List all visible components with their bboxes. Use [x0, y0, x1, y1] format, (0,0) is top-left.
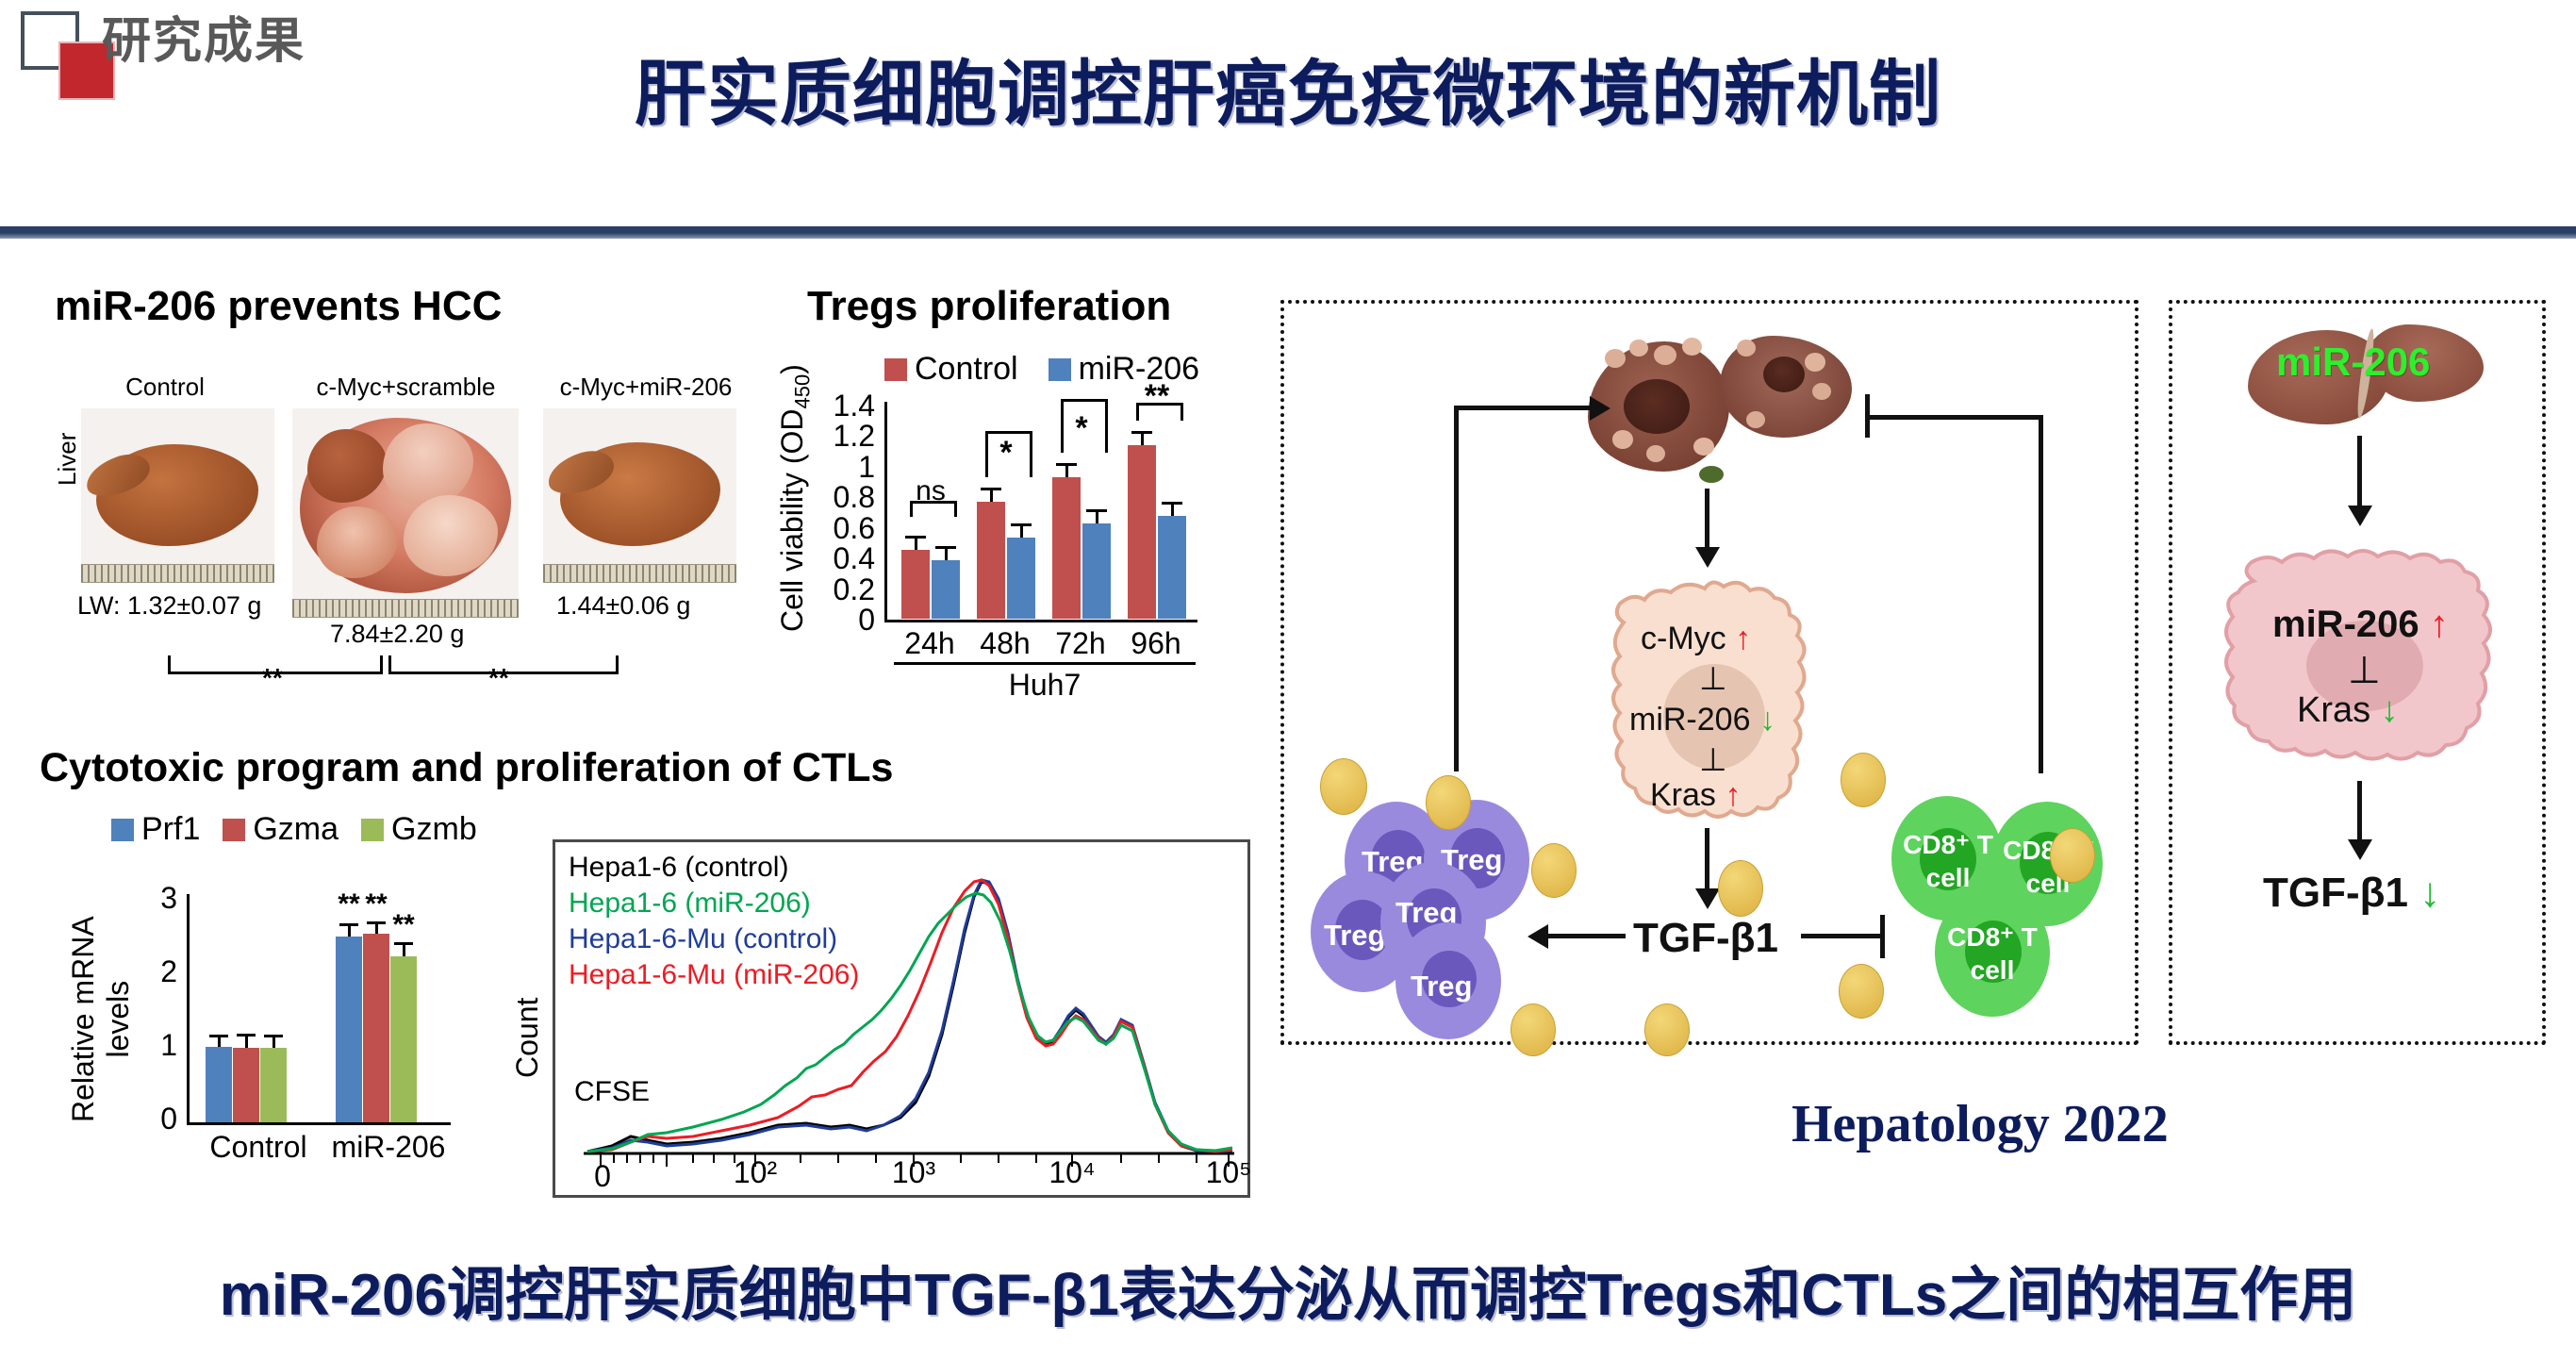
cd8-cluster: CD8⁺ T cell CD8⁺ T cell CD8⁺ T cell — [1884, 787, 2129, 1022]
vesicle-icon — [1644, 1003, 1690, 1056]
legend-label-gzma: Gzma — [253, 811, 339, 848]
errorbar-gzmb-mir206 — [403, 945, 405, 956]
cd8-label-line2: cell — [1971, 955, 2015, 985]
liver-photo-panel: Liver Control LW: 1.32±0.07 g c-Myc+scra… — [57, 373, 754, 684]
errorbar-control-24h — [915, 539, 917, 550]
tgfb-to-treg-arrow — [1544, 934, 1626, 938]
errorbar-control-48h — [990, 490, 993, 502]
gene-arrow-kras-right: ↓ — [2381, 690, 2399, 730]
cfse-xtick-1e4: 10⁴ — [1034, 1155, 1110, 1190]
bar-mir206-48h — [1007, 538, 1035, 619]
legend-item-gzmb: Gzmb — [361, 811, 477, 848]
gene-name-mir206: miR-206 — [1629, 702, 1750, 738]
errorbar-gzma-control — [245, 1037, 248, 1048]
liver-column-label-cmyc-mir206: c-Myc+miR-206 — [528, 373, 764, 402]
liver-weight-cmyc-scramble: 7.84±2.20 g — [330, 620, 464, 649]
mechanism-diagram-main: c-Myc ↑ ⊥ miR-206 ↓ ⊥ Kras ↑ TGF-β1 Treg… — [1280, 300, 2138, 1045]
errorbar-control-96h — [1141, 434, 1144, 445]
liver-photo-cmyc-mir206 — [543, 408, 736, 583]
errorbar-mir206-72h — [1096, 512, 1098, 523]
errorcap-mir206-48h — [1011, 523, 1032, 526]
gene-arrow-cmyc: ↑ — [1735, 621, 1751, 656]
cfse-xtick-1e2: 10² — [718, 1155, 793, 1190]
gene-name-kras: Kras — [1650, 777, 1716, 813]
gene-name-kras-right: Kras — [2297, 690, 2370, 730]
ctl-y-axis-title: Relative mRNA levels — [66, 916, 136, 1122]
errorcap-gzmb-control — [264, 1035, 283, 1037]
treg-label: Treg — [1324, 919, 1385, 953]
liver-weight-control: LW: 1.32±0.07 g — [77, 591, 261, 621]
ctl-x-axis — [187, 1122, 451, 1125]
liver-column-label-cmyc-scramble: c-Myc+scramble — [281, 373, 531, 402]
feedback-loop-arrowhead — [1590, 396, 1610, 421]
heading-mir206-prevents-hcc: miR-206 prevents HCC — [55, 283, 502, 330]
sig-annotation-24h: ns — [898, 475, 964, 507]
gene-label-mir206-right: miR-206 ↑ — [2272, 604, 2449, 646]
tregs-xtick-72h: 72h — [1043, 626, 1118, 661]
bar-mir206-96h — [1158, 516, 1186, 619]
bar-control-24h — [901, 550, 930, 619]
gene-arrow-mir206-right: ↑ — [2430, 604, 2449, 645]
bar-gzmb-control — [260, 1048, 287, 1122]
y-title-close: ) — [775, 364, 809, 374]
cfse-curves — [555, 842, 1247, 1195]
heading-tregs-proliferation: Tregs proliferation — [807, 283, 1171, 330]
legend-swatch-control — [884, 358, 907, 381]
journal-reference: Hepatology 2022 — [1792, 1094, 2169, 1154]
legend-label-prf1: Prf1 — [141, 811, 200, 848]
liver-tag-mir206: miR-206 — [2276, 340, 2430, 385]
feedback-loop-vertical — [1454, 406, 1459, 771]
sig-annotation-96h: ** — [1124, 378, 1190, 415]
errorbar-mir206-96h — [1171, 505, 1174, 516]
legend-item-control: Control — [884, 351, 1018, 388]
tregs-group-underline — [894, 662, 1196, 665]
tregs-xtick-24h: 24h — [892, 626, 967, 661]
legend-swatch-gzma — [223, 819, 245, 841]
gene-label-kras: Kras ↑ — [1650, 777, 1741, 814]
bar-mir206-24h — [932, 560, 960, 619]
ctl-y-title-line2: levels — [101, 981, 135, 1058]
mechanism-diagram-right: miR-206 miR-206 ↑ ⊥ Kras ↓ TGF-β1 ↓ — [2169, 300, 2546, 1045]
bar-gzmb-mir206 — [390, 956, 417, 1122]
errorbar-gzma-mir206 — [375, 924, 378, 934]
errorcap-mir206-72h — [1086, 509, 1107, 512]
vesicle-icon — [1841, 753, 1886, 807]
ctl-xtick-control: Control — [192, 1130, 324, 1165]
errorcap-mir206-24h — [935, 546, 956, 549]
bar-prf1-mir206 — [336, 937, 362, 1122]
hepatocyte-to-tgfb-arrow — [1705, 828, 1709, 892]
tregs-y-axis-title: Cell viability (OD450) — [775, 364, 815, 632]
cd8-label-line1: CD8⁺ T — [1947, 922, 2038, 952]
gene-arrow-mir206: ↓ — [1759, 702, 1775, 738]
tregs-x-axis — [884, 620, 1197, 622]
cd8-inhibit-vertical — [2039, 415, 2043, 773]
tumor-liver-icon — [1588, 324, 1852, 485]
bar-control-72h — [1052, 477, 1081, 619]
gene-label-mir206: miR-206 ↓ — [1629, 702, 1775, 738]
page-title: 肝实质细胞调控肝癌免疫微环境的新机制 — [0, 36, 2576, 140]
ctl-ytick-1: 1 — [138, 1028, 177, 1063]
cfse-xtick-0: 0 — [565, 1159, 640, 1194]
gene-label-cmyc: c-Myc ↑ — [1641, 621, 1751, 657]
errorcap-gzmb-mir206 — [394, 942, 413, 945]
vesicle-icon — [1320, 758, 1367, 815]
errorbar-mir206-48h — [1020, 526, 1023, 538]
y-title-main: Cell viability (OD — [775, 409, 809, 632]
legend-label-control: Control — [915, 351, 1018, 388]
legend-item-prf1: Prf1 — [111, 811, 200, 848]
hepatocyte-cell-treated: miR-206 ↑ ⊥ Kras ↓ — [2216, 543, 2504, 770]
tregs-ytick-3: 0.8 — [811, 480, 875, 515]
cytokine-label-tgfb1-right: TGF-β1 ↓ — [2263, 870, 2440, 917]
legend-swatch-gzmb — [361, 819, 384, 841]
errorbar-control-72h — [1065, 466, 1068, 477]
gene-name-cmyc: c-Myc — [1641, 621, 1726, 656]
cd8-label-line1: CD8⁺ T — [1903, 830, 1993, 859]
ctl-ytick-2: 2 — [138, 954, 177, 989]
significance-star-2: ** — [488, 663, 509, 693]
treg-cluster: Treg Treg Treg Treg Treg — [1303, 794, 1548, 1030]
legend-swatch-mir206 — [1049, 358, 1071, 381]
cd8-inhibit-tbar — [1865, 394, 1870, 438]
ctl-ytick-3: 3 — [138, 881, 177, 916]
vesicle-icon — [1531, 843, 1577, 898]
ctl-y-title-line1: Relative mRNA — [66, 916, 100, 1122]
errorcap-control-72h — [1056, 463, 1077, 466]
legend-swatch-prf1 — [111, 819, 134, 841]
liver-photo-control — [81, 408, 274, 583]
tregs-ytick-7: 0 — [811, 603, 875, 638]
gene-label-kras-right: Kras ↓ — [2297, 690, 2399, 731]
gene-arrow-kras: ↑ — [1725, 777, 1741, 813]
liver-to-hepatocyte-arrowhead — [1695, 547, 1720, 568]
ctl-plot-area: ** ** ** — [189, 896, 443, 1122]
tregs-proliferation-chart: Control miR-206 Cell viability (OD450) 1… — [773, 349, 1245, 707]
treg-label: Treg — [1411, 970, 1472, 1003]
errorcap-control-24h — [905, 536, 926, 539]
tregs-plot-area: ns * * ** — [886, 404, 1197, 619]
sig-annotation-48h: * — [973, 435, 1039, 472]
liver-to-hepatocyte-arrow-right — [2357, 436, 2362, 509]
errorbar-prf1-control — [218, 1037, 221, 1047]
ctl-legend: Prf1 Gzma Gzmb — [111, 811, 477, 848]
ctl-xtick-mir206: miR-206 — [322, 1130, 454, 1165]
gene-name-mir206-right: miR-206 — [2272, 604, 2419, 645]
vesicle-icon — [2050, 828, 2095, 883]
bar-control-48h — [977, 502, 1005, 619]
vesicle-icon — [1511, 1003, 1556, 1056]
inhibit-symbol-mir206-kras: ⊥ — [1699, 741, 1727, 779]
tgfb-inhibit-cd8-line — [1801, 934, 1882, 938]
significance-star-1: ** — [262, 663, 283, 693]
liver-weight-cmyc-mir206: 1.44±0.06 g — [556, 591, 690, 621]
liver-column-label-control: Control — [57, 373, 273, 402]
errorcap-mir206-96h — [1162, 502, 1182, 505]
tregs-xtick-48h: 48h — [967, 626, 1043, 661]
ctl-mrna-chart: Prf1 Gzma Gzmb Relative mRNA levels 3 2 … — [57, 811, 471, 1188]
bar-mir206-72h — [1082, 523, 1111, 619]
cfse-y-axis-title: Count — [510, 998, 545, 1078]
cytokine-name-right: TGF-β1 — [2263, 870, 2408, 916]
tregs-xtick-96h: 96h — [1118, 626, 1194, 661]
errorbar-mir206-24h — [945, 549, 948, 560]
errorcap-control-48h — [981, 488, 1001, 490]
ctl-ytick-0: 0 — [138, 1102, 177, 1136]
errorcap-gzma-control — [237, 1034, 256, 1037]
tregs-ytick-5: 0.4 — [811, 541, 875, 576]
hepatocyte-to-tgfb-arrowhead-right — [2348, 839, 2372, 860]
feedback-loop-horizontal — [1454, 406, 1595, 410]
errorbar-prf1-mir206 — [348, 926, 351, 937]
inhibit-symbol-right: ⊥ — [2348, 649, 2381, 692]
hepatocyte-cell-diseased: c-Myc ↑ ⊥ miR-206 ↓ ⊥ Kras ↑ — [1595, 573, 1822, 828]
cfse-xtick-1e3: 10³ — [876, 1155, 951, 1190]
errorcap-control-96h — [1131, 431, 1152, 434]
liver-row-label: Liver — [53, 433, 82, 486]
errorcap-prf1-mir206 — [339, 923, 358, 926]
cd8-label: CD8⁺ T cell — [1903, 828, 1993, 894]
vesicle-icon — [1718, 860, 1763, 917]
legend-label-gzmb: Gzmb — [391, 811, 477, 848]
bottom-caption: miR-206调控肝实质细胞中TGF-β1表达分泌从而调控Tregs和CTLs之… — [0, 1247, 2576, 1332]
hepatocyte-to-tgfb-arrowhead — [1695, 888, 1720, 909]
bar-control-96h — [1128, 445, 1156, 619]
heading-cytotoxic-program: Cytotoxic program and proliferation of C… — [40, 745, 893, 791]
tregs-group-label: Huh7 — [932, 668, 1158, 703]
tregs-ytick-1: 1.2 — [811, 419, 875, 454]
sig-annotation-gzmb: ** — [380, 909, 427, 941]
liver-to-hepatocyte-arrow — [1705, 489, 1709, 551]
bar-gzma-mir206 — [363, 934, 389, 1122]
title-divider — [0, 226, 2576, 239]
cd8-label: CD8⁺ T cell — [1946, 920, 2039, 987]
bar-gzma-control — [233, 1048, 259, 1122]
cfse-histogram-panel: Hepa1-6 (control) Hepa1-6 (miR-206) Hepa… — [553, 839, 1250, 1198]
liver-photo-cmyc-scramble — [292, 408, 519, 618]
cytokine-label-tgfb1: TGF-β1 — [1633, 915, 1778, 962]
errorbar-gzmb-control — [272, 1037, 275, 1048]
cd8-label-line2: cell — [1926, 863, 1971, 892]
inhibit-symbol-cmyc-mir206: ⊥ — [1699, 660, 1727, 698]
legend-item-gzma: Gzma — [223, 811, 339, 848]
cd8-inhibit-horizontal — [1867, 415, 2042, 420]
errorcap-prf1-control — [209, 1035, 228, 1037]
vesicle-icon — [1426, 775, 1471, 830]
bar-prf1-control — [206, 1047, 232, 1122]
sig-annotation-72h: * — [1049, 410, 1115, 447]
hepatocyte-to-tgfb-arrow-right — [2357, 781, 2362, 843]
liver-to-hepatocyte-arrowhead-right — [2348, 506, 2372, 526]
cfse-xtick-1e5: 10⁵ — [1191, 1155, 1266, 1190]
vesicle-icon — [1839, 964, 1884, 1019]
cytokine-arrow-right: ↓ — [2419, 870, 2440, 916]
